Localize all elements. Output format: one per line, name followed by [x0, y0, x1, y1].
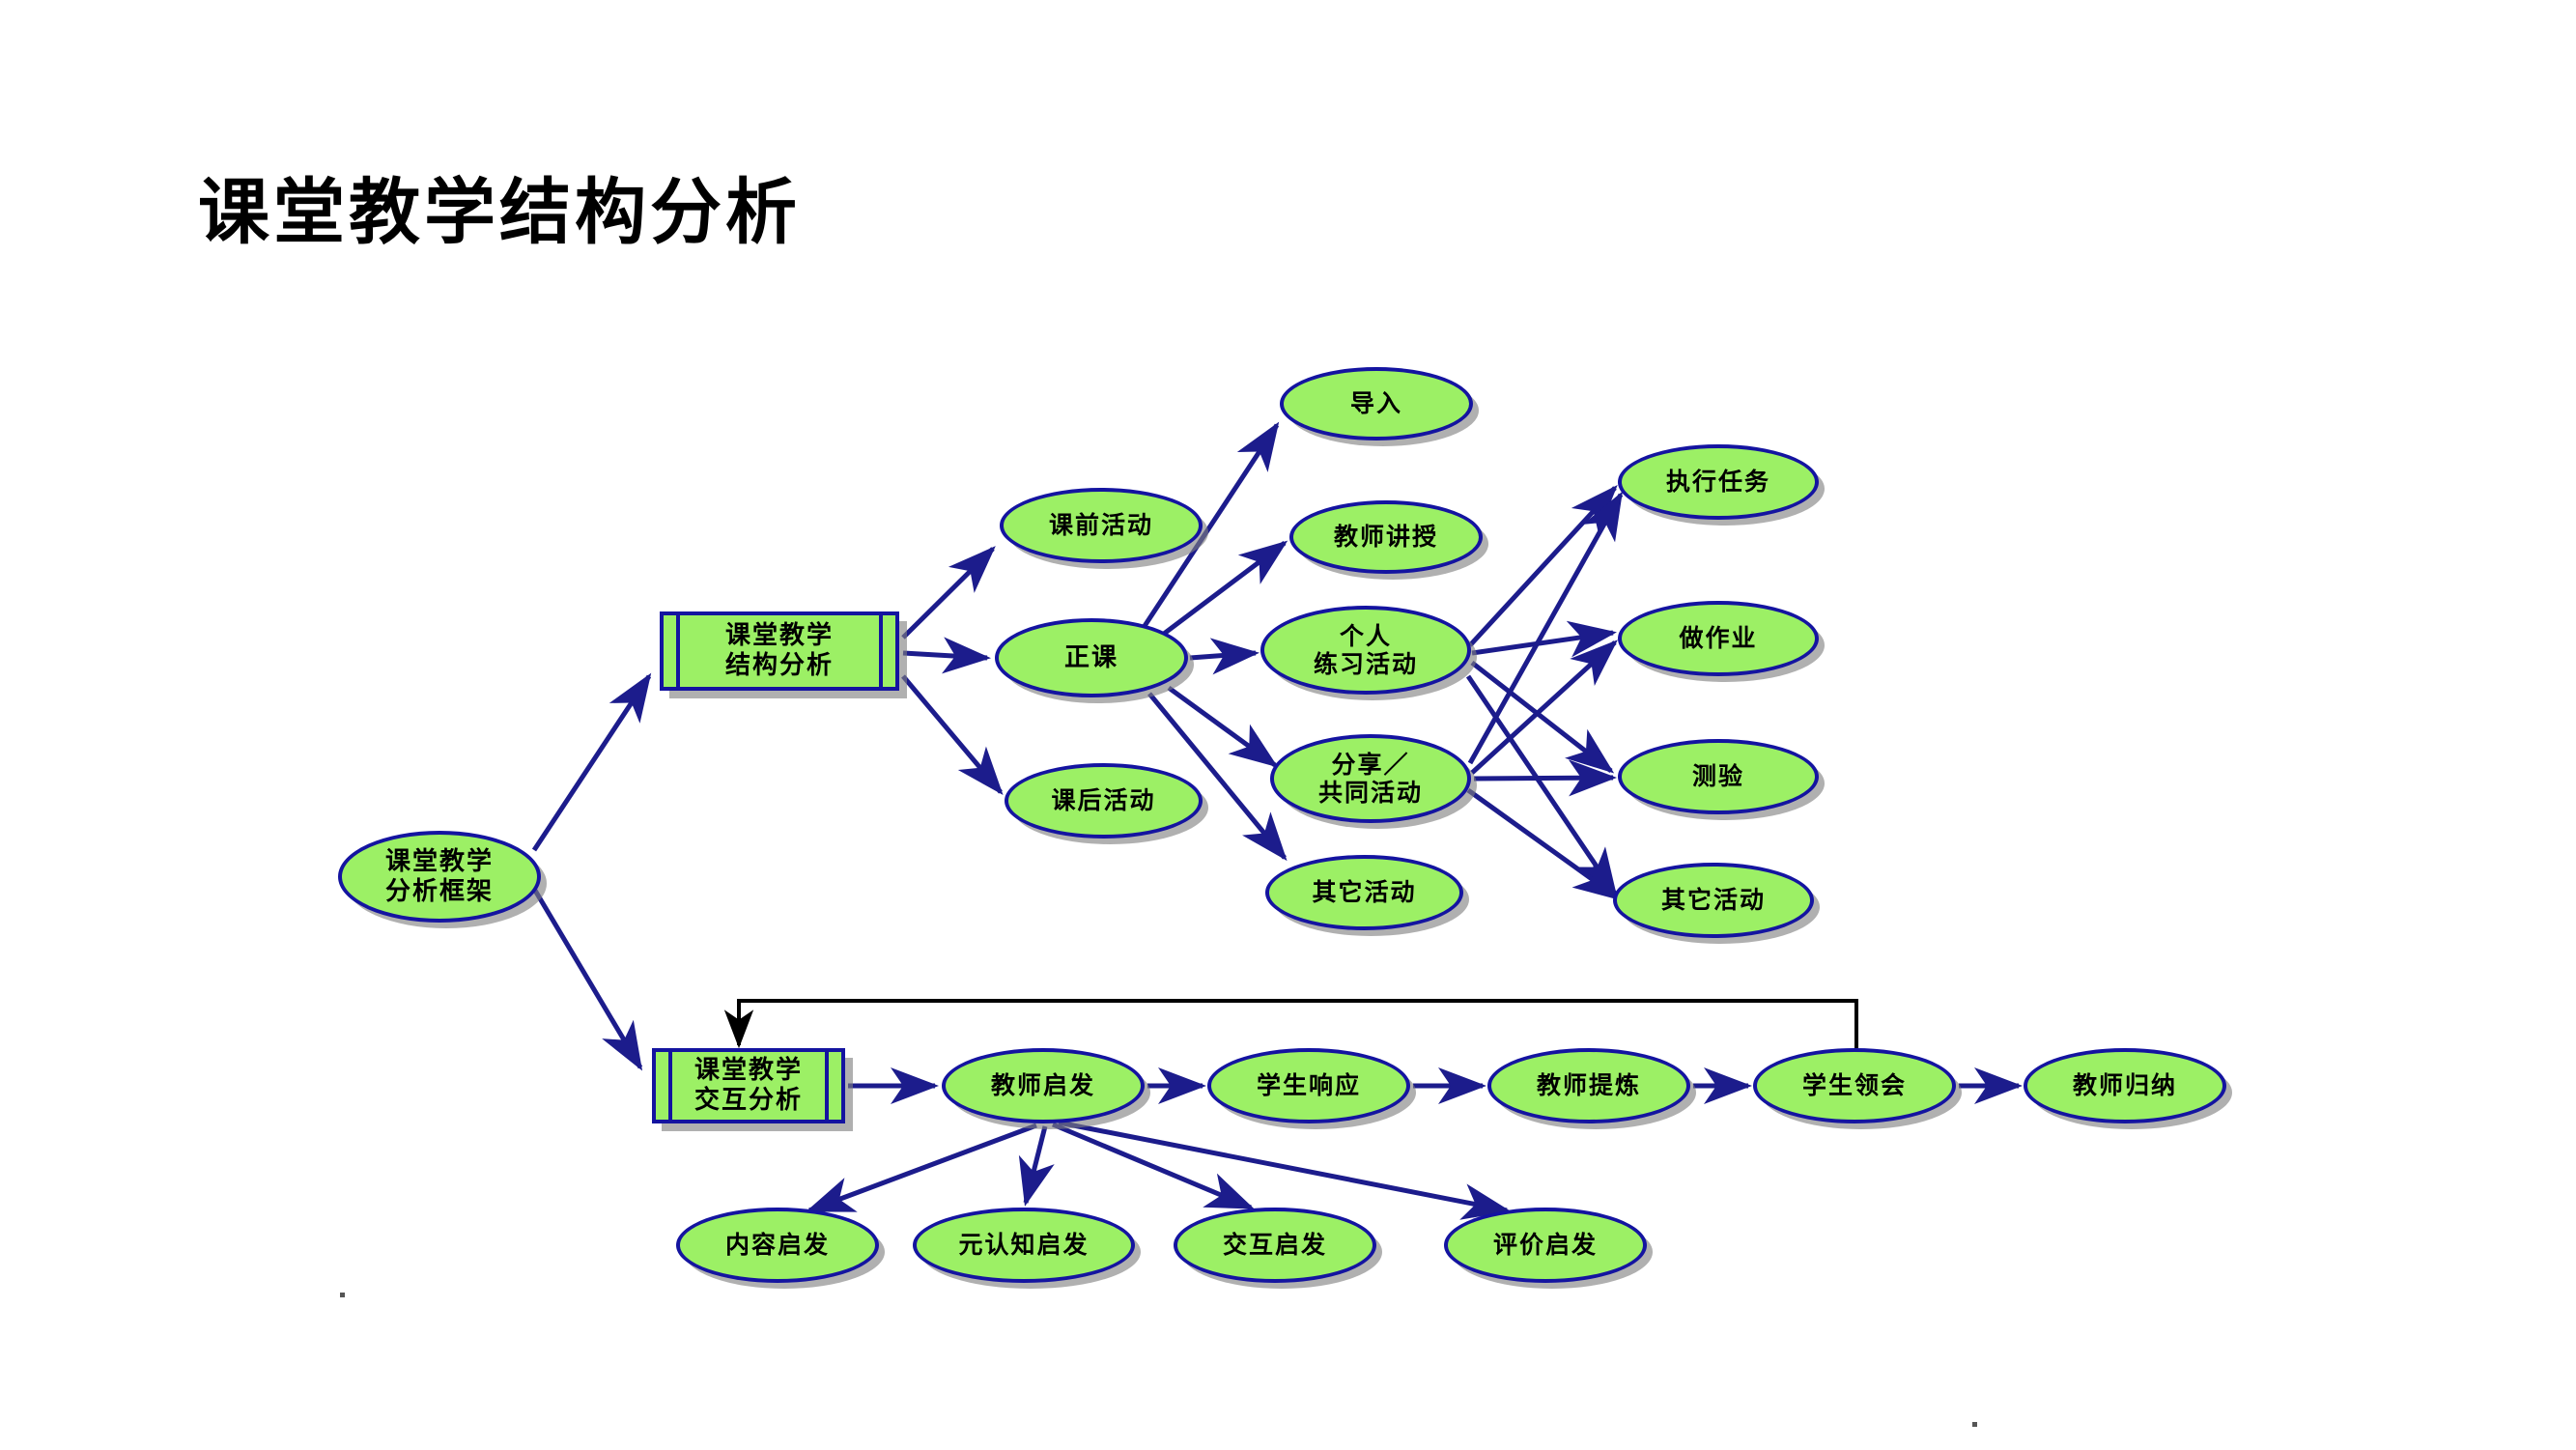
node-teacher-summarize[interactable]: 教师归纳 — [2024, 1048, 2226, 1123]
node-structure-analysis[interactable]: 课堂教学 结构分析 — [660, 611, 899, 691]
node-student-respond[interactable]: 学生响应 — [1207, 1048, 1410, 1123]
node-sharing-joint-activity[interactable]: 分享／ 共同活动 — [1270, 734, 1471, 823]
node-execute-task[interactable]: 执行任务 — [1618, 444, 1819, 520]
node-main-class[interactable]: 正课 — [995, 618, 1188, 697]
node-quiz[interactable]: 测验 — [1618, 739, 1819, 814]
node-other-activity-middle[interactable]: 其它活动 — [1265, 855, 1463, 930]
node-interactive-inspiration[interactable]: 交互启发 — [1174, 1208, 1376, 1283]
node-pre-class-activity[interactable]: 课前活动 — [1000, 488, 1203, 563]
node-interaction-analysis[interactable]: 课堂教学 交互分析 — [652, 1048, 845, 1123]
slide-canvas: 课堂教学结构分析 — [0, 0, 2576, 1450]
node-content-inspiration[interactable]: 内容启发 — [676, 1208, 879, 1283]
node-individual-practice[interactable]: 个人 练习活动 — [1260, 606, 1471, 695]
node-post-class-activity[interactable]: 课后活动 — [1005, 763, 1203, 839]
node-student-grasp[interactable]: 学生领会 — [1753, 1048, 1956, 1123]
node-lead-in[interactable]: 导入 — [1280, 367, 1473, 441]
node-layer: 课堂教学 分析框架 课堂教学 结构分析 课堂教学 交互分析 课前活动 正课 课后… — [0, 0, 2576, 1450]
node-do-homework[interactable]: 做作业 — [1618, 601, 1819, 676]
node-teacher-lecture[interactable]: 教师讲授 — [1289, 500, 1483, 574]
node-other-activity-right[interactable]: 其它活动 — [1613, 863, 1814, 938]
node-evaluative-inspiration[interactable]: 评价启发 — [1444, 1208, 1647, 1283]
node-teacher-inspire[interactable]: 教师启发 — [942, 1048, 1145, 1123]
node-teacher-refine[interactable]: 教师提炼 — [1487, 1048, 1690, 1123]
node-framework[interactable]: 课堂教学 分析框架 — [338, 831, 541, 923]
decoration-dot-bottom — [1972, 1422, 1977, 1427]
decoration-dot-left — [340, 1293, 345, 1297]
node-metacognitive-inspiration[interactable]: 元认知启发 — [913, 1208, 1135, 1283]
